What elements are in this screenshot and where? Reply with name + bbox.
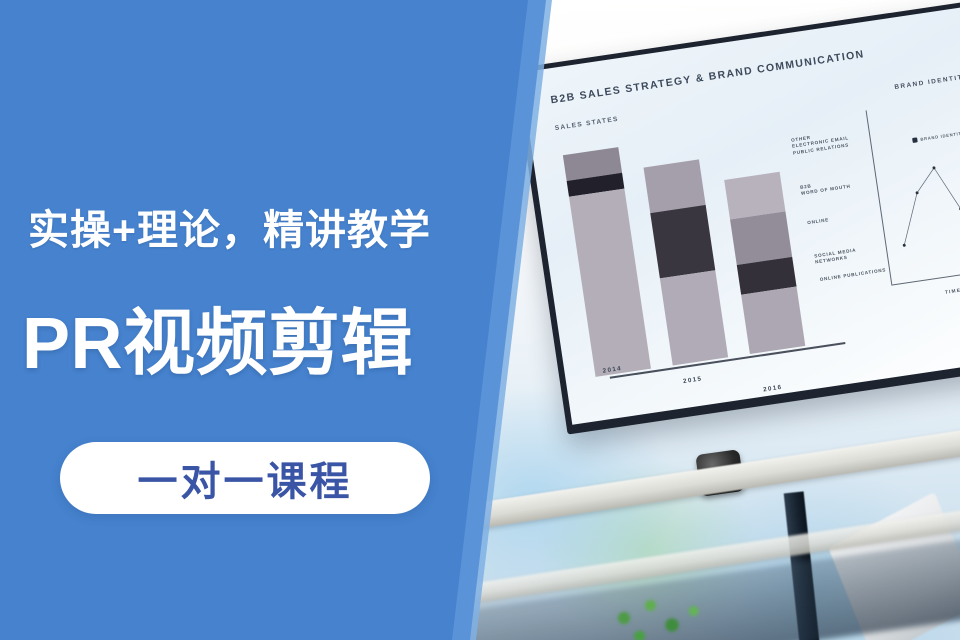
chart-subtitle: SALES STATES xyxy=(554,116,619,132)
bar-2015 xyxy=(644,159,729,365)
bar-2016 xyxy=(724,172,805,354)
line-chart-title: BRAND IDENTITY xyxy=(894,73,960,91)
legend-label-b2b: B2B WORD OF MOUTH xyxy=(800,178,851,198)
bar-segment xyxy=(644,159,706,213)
whiteboard: B2B SALES STRATEGY & BRAND COMMUNICATION… xyxy=(514,0,960,435)
plant-icon xyxy=(600,590,720,640)
legend-swatch-icon xyxy=(912,137,918,143)
pill-label: 一对一课程 xyxy=(138,449,353,507)
x-axis-label: TIME FRAME xyxy=(945,285,960,296)
headline: PR视频剪辑 xyxy=(22,308,522,380)
x-tick-2015: 2015 xyxy=(683,375,703,385)
tagline: 实操+理论，精讲教学 xyxy=(28,196,508,256)
legend-label-social: SOCIAL MEDIA NETWORKS xyxy=(814,247,858,266)
course-type-pill[interactable]: 一对一课程 xyxy=(60,442,430,514)
bar-2014 xyxy=(563,147,651,377)
banner-root: B2B SALES STRATEGY & BRAND COMMUNICATION… xyxy=(0,0,960,640)
line-chart: BRAND IDENTITY xyxy=(856,66,960,337)
bar-segment xyxy=(741,287,805,355)
x-tick-2016: 2016 xyxy=(763,384,783,394)
legend-label-publications: ONLINE PUBLICATIONS xyxy=(819,267,886,283)
bar-chart: 2014 2015 2016 xyxy=(555,107,818,378)
bar-segment xyxy=(730,211,792,265)
bar-segment xyxy=(650,205,715,278)
legend-label-other: OTHER ELECTRONIC EMAIL PUBLIC RELATIONS xyxy=(791,129,851,156)
bar-segment xyxy=(569,189,651,377)
legend-label-online: ONLINE xyxy=(807,217,830,226)
copy-block: 实操+理论，精讲教学 PR视频剪辑 一对一课程 xyxy=(0,0,540,640)
bar-segment xyxy=(660,270,728,365)
line-series-svg xyxy=(866,88,960,284)
whiteboard-surface: B2B SALES STRATEGY & BRAND COMMUNICATION… xyxy=(520,1,960,424)
